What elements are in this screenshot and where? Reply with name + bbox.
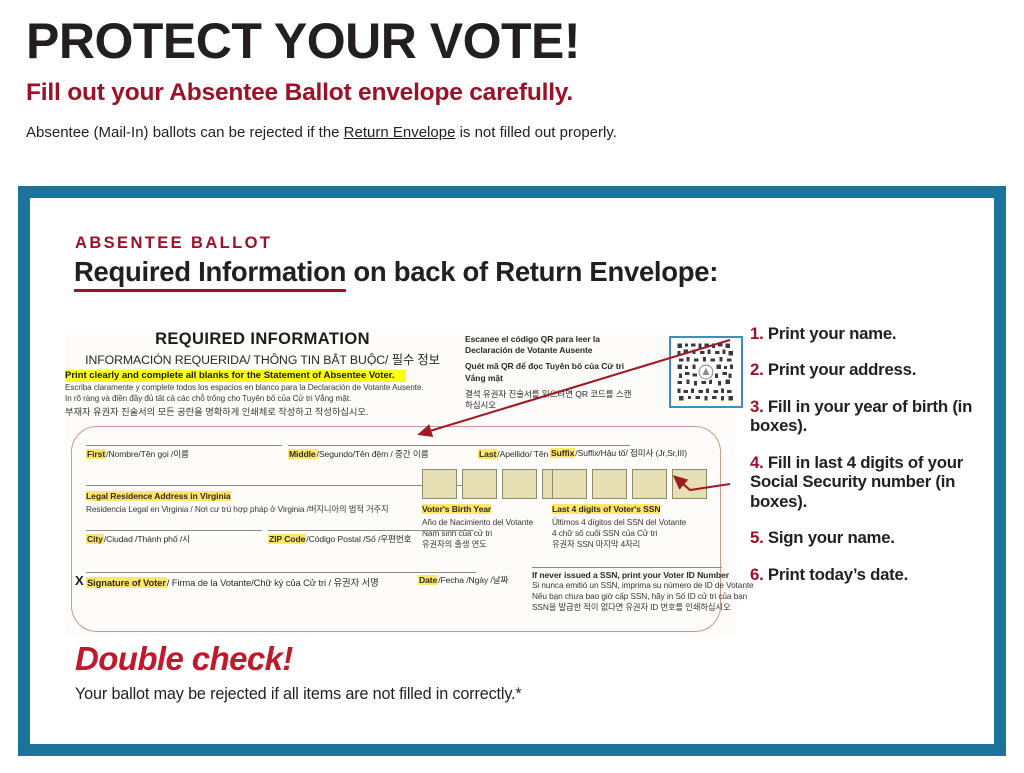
ssn-label: Last 4 digits of Voter's SSN bbox=[552, 504, 660, 514]
print-clearly-highlight: Print clearly and complete all blanks fo… bbox=[65, 370, 406, 382]
field-zip-code[interactable]: ZIP Code/Código Postal /Số /우편번호 bbox=[268, 530, 474, 545]
signature-x-mark: X bbox=[75, 573, 84, 588]
field-rule bbox=[86, 530, 262, 531]
field-suffix[interactable]: Suffix/Suffix/Hậu tố/ 접미사 (Jr,Sr,III) bbox=[550, 445, 720, 459]
step-number: 3. bbox=[750, 397, 764, 416]
field-label-signature-translations: / Firma de la Votante/Chữ ký của Cử tri … bbox=[167, 577, 379, 588]
field-label-middle: Middle bbox=[288, 449, 317, 459]
list-item: 4. Fill in last 4 digits of your Social … bbox=[750, 453, 980, 511]
envelope-header-block: REQUIRED INFORMATION INFORMACIÓN REQUERI… bbox=[65, 330, 737, 426]
field-label-first-translations: /Nombre/Tên gọi /이름 bbox=[106, 449, 189, 459]
step-text: Print today’s date. bbox=[768, 565, 908, 584]
qr-instruction-vi: Quét mã QR để đọc Tuyên bố của Cử tri Vắ… bbox=[465, 361, 633, 383]
information-card: ABSENTEE BALLOT Required Information on … bbox=[18, 186, 1006, 756]
ssn-boxes[interactable]: Last 4 digits of Voter's SSN Últimos 4 d… bbox=[552, 469, 707, 550]
qr-instruction-ko: 결석 유권자 진술서를 읽으려면 QR 코드를 스캔하십시오 bbox=[465, 389, 633, 411]
voter-id-note-vi: Nếu bạn chưa bao giờ cấp SSN, hãy in Số … bbox=[532, 591, 722, 602]
list-item: 6. Print today’s date. bbox=[750, 565, 980, 584]
card-title: Required Information on back of Return E… bbox=[74, 256, 718, 288]
ssn-box[interactable] bbox=[632, 469, 667, 499]
field-label-first: First bbox=[86, 449, 106, 459]
field-date[interactable]: Date/Fecha /Ngày /날짜 bbox=[418, 572, 526, 586]
step-number: 2. bbox=[750, 360, 764, 379]
qr-instruction-block: Escanee el código QR para leer la Declar… bbox=[465, 334, 737, 426]
field-label-zip: ZIP Code bbox=[268, 534, 306, 544]
card-kicker: ABSENTEE BALLOT bbox=[75, 234, 272, 253]
highlight-translation-ko: 부재자 유권자 진술서의 모든 공란을 명확하게 인쇄체로 작성하고 작성하십시… bbox=[65, 406, 425, 419]
step-number: 5. bbox=[750, 528, 764, 547]
footnote-text: Your ballot may be rejected if all items… bbox=[75, 685, 522, 704]
field-label-suffix: Suffix bbox=[550, 448, 575, 458]
field-label-signature: Signature of Voter bbox=[86, 577, 167, 588]
instruction-list: 1. Print your name. 2. Print your addres… bbox=[750, 324, 980, 601]
birth-year-box[interactable] bbox=[422, 469, 457, 499]
voter-id-note-es: Si nunca emitió un SSN, imprima su númer… bbox=[532, 580, 722, 591]
field-label-last: Last bbox=[478, 449, 497, 459]
field-label-address: Legal Residence Address in Virginia bbox=[86, 491, 231, 501]
field-label-city: City bbox=[86, 534, 104, 544]
step-text: Sign your name. bbox=[768, 528, 895, 547]
field-label-zip-translations: /Código Postal /Số /우편번호 bbox=[306, 534, 411, 544]
field-label-date-translations: /Fecha /Ngày /날짜 bbox=[438, 575, 508, 585]
qr-instruction-es: Escanee el código QR para leer la Declar… bbox=[465, 334, 633, 356]
list-item: 5. Sign your name. bbox=[750, 528, 980, 547]
page-title: PROTECT YOUR VOTE! bbox=[26, 16, 1024, 67]
highlight-translation-es: Escriba claramente y complete todos los … bbox=[65, 382, 425, 393]
step-text: Fill in your year of birth (in boxes). bbox=[750, 397, 972, 435]
field-first-name[interactable]: First/Nombre/Tên gọi /이름 bbox=[86, 445, 282, 460]
field-rule bbox=[532, 567, 722, 568]
card-title-emphasis: Required Information bbox=[74, 256, 346, 292]
step-number: 6. bbox=[750, 565, 764, 584]
double-check-heading: Double check! bbox=[75, 640, 293, 678]
field-city[interactable]: City/Ciudad /Thành phố /시 bbox=[86, 530, 262, 545]
field-label-middle-translations: /Segundo/Tên đệm / 중간 이름 bbox=[317, 449, 429, 459]
ssn-translation-ko: 유권자 SSN 마지막 4자리 bbox=[552, 539, 707, 550]
field-rule bbox=[86, 445, 282, 446]
step-number: 1. bbox=[750, 324, 764, 343]
field-middle-name[interactable]: Middle/Segundo/Tên đệm / 중간 이름 bbox=[288, 445, 484, 460]
step-text: Print your name. bbox=[768, 324, 896, 343]
birth-year-label: Voter's Birth Year bbox=[422, 504, 491, 514]
field-label-date: Date bbox=[418, 575, 438, 585]
highlight-translation-vi: In rõ ràng và điền đầy đủ tất cả các chỗ… bbox=[65, 393, 425, 404]
field-label-city-translations: /Ciudad /Thành phố /시 bbox=[104, 534, 190, 544]
envelope-scan-image: REQUIRED INFORMATION INFORMACIÓN REQUERI… bbox=[65, 330, 737, 636]
birth-year-box[interactable] bbox=[502, 469, 537, 499]
ssn-box[interactable] bbox=[672, 469, 707, 499]
step-text: Print your address. bbox=[768, 360, 916, 379]
voter-id-note-ko: SSN을 발급한 적이 없다면 유권자 ID 번호를 인쇄하십시오 bbox=[532, 602, 722, 613]
birth-year-box[interactable] bbox=[462, 469, 497, 499]
ssn-translation-es: Últimos 4 dígitos del SSN del Votante bbox=[552, 517, 707, 528]
rejection-notice: Absentee (Mail-In) ballots can be reject… bbox=[26, 124, 1024, 142]
list-item: 2. Print your address. bbox=[750, 360, 980, 379]
field-rule bbox=[268, 530, 474, 531]
notice-text-after: is not filled out properly. bbox=[455, 124, 616, 141]
step-text: Fill in last 4 digits of your Social Sec… bbox=[750, 453, 963, 511]
notice-text-before: Absentee (Mail-In) ballots can be reject… bbox=[26, 124, 344, 141]
voter-id-note-label: If never issued a SSN, print your Voter … bbox=[532, 570, 722, 580]
list-item: 3. Fill in your year of birth (in boxes)… bbox=[750, 397, 980, 436]
ssn-translation-vi: 4 chữ số cuối SSN của Cử tri bbox=[552, 528, 707, 539]
page-subtitle: Fill out your Absentee Ballot envelope c… bbox=[26, 80, 1024, 107]
ssn-box-group[interactable] bbox=[552, 469, 707, 499]
card-title-rest: on back of Return Envelope: bbox=[346, 256, 718, 287]
required-information-subtitle: INFORMACIÓN REQUERIDA/ THÔNG TIN BẮT BUỘ… bbox=[65, 350, 460, 368]
list-item: 1. Print your name. bbox=[750, 324, 980, 343]
envelope-form-panel: X First/Nombre/Tên gọi /이름 Middle/Segund… bbox=[71, 426, 721, 632]
field-voter-id-note: If never issued a SSN, print your Voter … bbox=[532, 567, 722, 613]
field-label-suffix-translations: /Suffix/Hậu tố/ 접미사 (Jr,Sr,III) bbox=[575, 448, 687, 458]
field-rule bbox=[288, 445, 484, 446]
ssn-box[interactable] bbox=[552, 469, 587, 499]
page-header: PROTECT YOUR VOTE! Fill out your Absente… bbox=[0, 0, 1024, 142]
step-number: 4. bbox=[750, 453, 764, 472]
return-envelope-link[interactable]: Return Envelope bbox=[344, 124, 456, 141]
required-information-title: REQUIRED INFORMATION bbox=[65, 330, 460, 349]
ssn-box[interactable] bbox=[592, 469, 627, 499]
qr-code-icon bbox=[669, 336, 743, 408]
